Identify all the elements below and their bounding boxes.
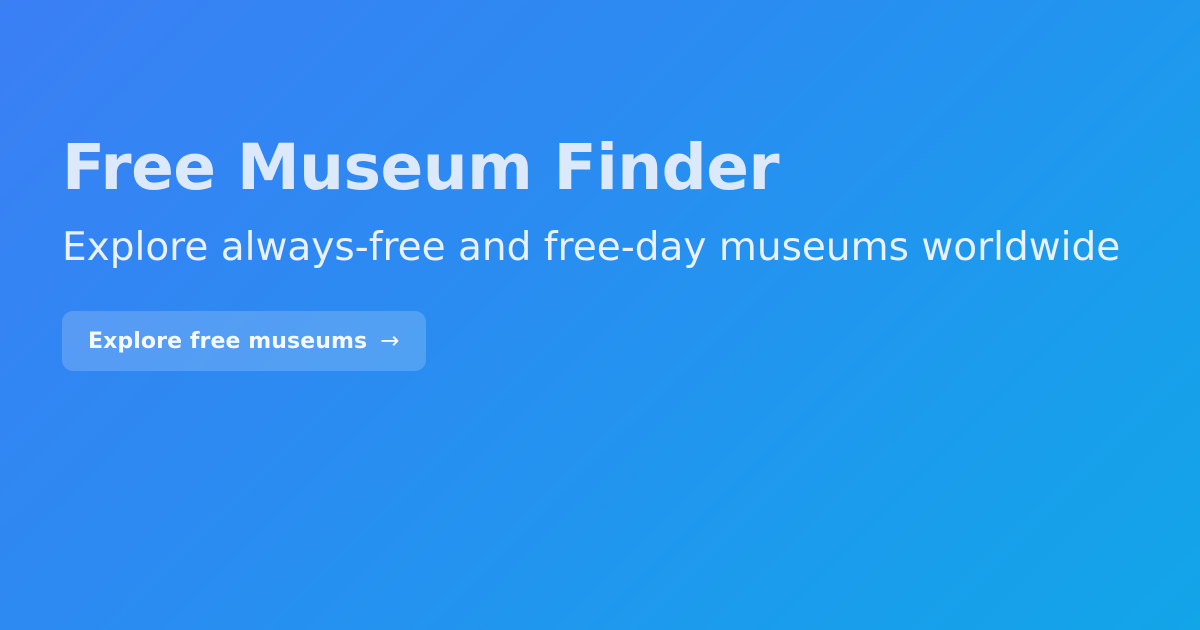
explore-free-museums-button[interactable]: Explore free museums → <box>62 311 426 371</box>
arrow-right-icon: → <box>380 330 399 353</box>
hero-banner: Free Museum Finder Explore always-free a… <box>0 0 1200 630</box>
cta-button-label: Explore free museums <box>88 329 367 354</box>
page-subtitle: Explore always-free and free-day museums… <box>62 225 1200 271</box>
page-title: Free Museum Finder <box>62 132 1200 204</box>
cta-container: Explore free museums → <box>62 311 1200 371</box>
